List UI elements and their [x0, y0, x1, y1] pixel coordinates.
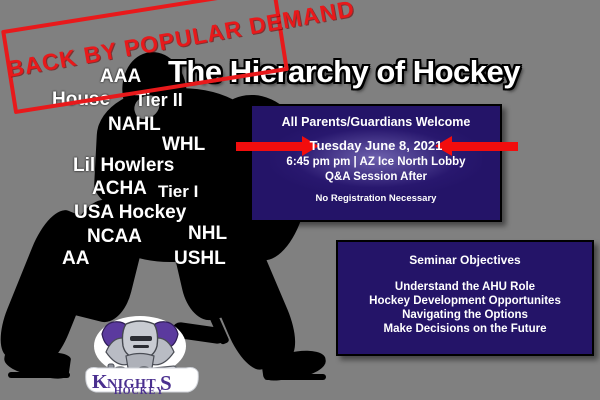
- hierarchy-term-usa-hockey: USA Hockey: [74, 202, 186, 224]
- hierarchy-term-nhl: NHL: [188, 223, 227, 245]
- event-date: Tuesday June 8, 2021: [252, 138, 500, 153]
- hierarchy-term-ushl: USHL: [174, 248, 226, 270]
- hierarchy-term-lil-howlers: Lil Howlers: [73, 155, 174, 177]
- hierarchy-term-aa: AA: [62, 248, 89, 270]
- logo-name-top: K: [92, 371, 108, 393]
- hierarchy-term-ncaa: NCAA: [87, 226, 142, 248]
- event-details-box: All Parents/Guardians Welcome Tuesday Ju…: [250, 104, 502, 222]
- objective-item: Navigating the Options: [338, 309, 592, 321]
- hierarchy-term-tier-i: Tier I: [158, 182, 198, 202]
- logo-name-bottom: HOCKEY: [114, 386, 164, 396]
- objective-item: Understand the AHU Role: [338, 281, 592, 293]
- hierarchy-term-acha: ACHA: [92, 178, 147, 200]
- event-time-location: 6:45 pm pm | AZ Ice North Lobby: [252, 156, 500, 168]
- objective-item: Make Decisions on the Future: [338, 323, 592, 335]
- poster-canvas: AAA House Tier II NAHL WHL Lil Howlers A…: [0, 0, 600, 400]
- knights-logo-graphic: K NIGHT S HOCKEY: [82, 312, 200, 396]
- objectives-heading: Seminar Objectives: [338, 253, 592, 267]
- event-session-note: Q&A Session After: [252, 171, 500, 183]
- hierarchy-term-whl: WHL: [162, 134, 205, 156]
- event-welcome-heading: All Parents/Guardians Welcome: [252, 115, 500, 129]
- silhouette-left-blade: [8, 372, 70, 378]
- seminar-objectives-box: Seminar Objectives Understand the AHU Ro…: [336, 240, 594, 356]
- knights-hockey-logo: K NIGHT S HOCKEY: [82, 312, 200, 396]
- objective-item: Hockey Development Opportunites: [338, 295, 592, 307]
- silhouette-right-blade: [264, 374, 326, 380]
- event-registration-note: No Registration Necessary: [252, 193, 500, 204]
- hierarchy-term-nahl: NAHL: [108, 114, 161, 136]
